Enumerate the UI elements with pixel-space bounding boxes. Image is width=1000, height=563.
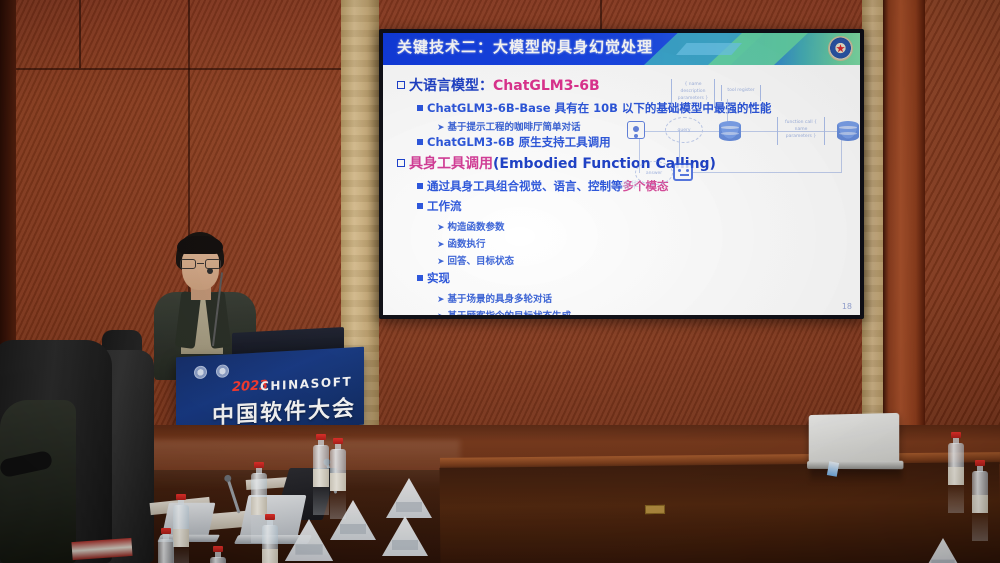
bullet-text: 基于顾客指令的目标状态生成 bbox=[448, 311, 572, 315]
bullet-line-11: 实现 bbox=[417, 267, 450, 286]
display-panel: 关键技术二：大模型的具身幻觉处理 大语言模型：ChatGLM3-6B ChatG… bbox=[383, 33, 860, 315]
name-card-strip bbox=[340, 524, 366, 534]
wall-seam-horizontal bbox=[0, 68, 341, 70]
bullet-text: 大语言模型： bbox=[409, 78, 493, 94]
diagram-node-tool-register: tool register bbox=[721, 85, 761, 101]
speaker-hair-fringe bbox=[177, 236, 223, 254]
robot-icon bbox=[673, 163, 693, 181]
bottle-body bbox=[158, 539, 174, 563]
bottle-reflection bbox=[173, 545, 189, 563]
diagram-connector bbox=[679, 172, 841, 173]
name-card-strip bbox=[396, 502, 422, 512]
name-card-strip bbox=[931, 560, 954, 563]
bottle-reflection bbox=[948, 483, 964, 513]
bottle-reflection bbox=[313, 485, 329, 515]
bullet-line-10: ➤回答、目标状态 bbox=[437, 249, 514, 268]
bullet-square-hollow-icon bbox=[397, 159, 405, 167]
bullet-text: 通过具身工具组合视觉、语言、控制等 bbox=[427, 179, 623, 193]
bullet-square-solid-icon bbox=[417, 139, 423, 145]
diagram-node-function-call: function call { name parameters } bbox=[777, 117, 825, 145]
slide-body: 大语言模型：ChatGLM3-6B ChatGLM3-6B-Base 具有在 1… bbox=[383, 65, 860, 315]
table-front-face bbox=[440, 462, 1000, 563]
bullet-square-hollow-icon bbox=[397, 81, 405, 89]
bottle-reflection bbox=[972, 511, 988, 541]
laptop-shadow bbox=[810, 468, 902, 484]
user-icon bbox=[627, 121, 645, 139]
name-card-strip bbox=[295, 544, 322, 555]
bullet-text: 实现 bbox=[427, 271, 450, 285]
bullet-text: ChatGLM3-6B 原生支持工具调用 bbox=[427, 135, 611, 149]
bullet-square-solid-icon bbox=[417, 105, 423, 111]
bullet-square-solid-icon bbox=[417, 183, 423, 189]
org-seal-left-icon bbox=[194, 366, 207, 380]
bullet-square-solid-icon bbox=[417, 275, 423, 281]
slide-title: 关键技术二：大模型的具身幻觉处理 bbox=[397, 36, 653, 57]
query-cloud-icon: query bbox=[665, 117, 703, 143]
bullet-line-13: ➤基于顾客指令的目标状态生成 bbox=[437, 304, 571, 315]
bottle-body bbox=[173, 505, 189, 545]
presentation-display[interactable]: 关键技术二：大模型的具身幻觉处理 大语言模型：ChatGLM3-6B ChatG… bbox=[379, 29, 864, 319]
bullet-text: 工作流 bbox=[427, 199, 462, 213]
bullet-arrow-icon: ➤ bbox=[437, 312, 445, 315]
red-wood-column bbox=[883, 0, 925, 470]
bottle-body bbox=[313, 445, 329, 485]
conference-room-photo: 关键技术二：大模型的具身幻觉处理 大语言模型：ChatGLM3-6B ChatG… bbox=[0, 0, 1000, 563]
wall-seam-vertical-a bbox=[79, 0, 81, 68]
bullet-square-solid-icon bbox=[417, 203, 423, 209]
bullet-line-1: 大语言模型：ChatGLM3-6B bbox=[397, 75, 600, 95]
bottle-body bbox=[330, 449, 346, 489]
database-icon-2 bbox=[837, 121, 859, 141]
bullet-line-7: 工作流 bbox=[417, 195, 462, 214]
slide-page-number: 18 bbox=[842, 302, 852, 311]
bullet-text: 具身工具调用 bbox=[409, 156, 493, 172]
bullet-arrow-icon: ➤ bbox=[437, 257, 445, 267]
microphone-head-icon bbox=[207, 268, 213, 274]
wall-seam-vertical-c bbox=[600, 0, 602, 30]
bottle-body bbox=[972, 471, 988, 511]
answer-cloud-icon: answer bbox=[635, 161, 673, 185]
laptop-base bbox=[807, 461, 903, 469]
bottle-body bbox=[251, 473, 267, 513]
table-plaque bbox=[645, 505, 665, 514]
apple-laptop[interactable] bbox=[806, 414, 902, 476]
podium-banner: 2023 CHINASOFT 中国软件大会 bbox=[176, 347, 364, 436]
apple-logo-icon bbox=[846, 431, 860, 447]
bullet-text: 回答、目标状态 bbox=[448, 256, 515, 267]
bottle-reflection bbox=[330, 489, 346, 519]
bottle-body bbox=[262, 525, 278, 563]
name-card-strip bbox=[392, 540, 418, 550]
bottle-body bbox=[948, 443, 964, 483]
bottle-body bbox=[210, 557, 226, 563]
university-crest-icon bbox=[828, 36, 853, 61]
slide: 关键技术二：大模型的具身幻觉处理 大语言模型：ChatGLM3-6B ChatG… bbox=[383, 33, 860, 315]
bullet-highlight: ChatGLM3-6B bbox=[493, 78, 600, 94]
bullet-line-4: ChatGLM3-6B 原生支持工具调用 bbox=[417, 131, 611, 150]
laptop-lid bbox=[809, 413, 899, 465]
glasses-icon bbox=[180, 259, 221, 269]
slide-header-bar: 关键技术二：大模型的具身幻觉处理 bbox=[383, 33, 860, 65]
diagram-node-schema: { name description parameters } bbox=[671, 79, 715, 107]
org-seal-right-icon bbox=[216, 364, 229, 378]
diagram-watermark: 清华 bbox=[621, 178, 639, 191]
function-calling-diagram: { name description parameters } tool reg… bbox=[619, 73, 860, 193]
right-wall-panel bbox=[925, 0, 1000, 470]
header-chevron-blue bbox=[676, 43, 742, 55]
bottle-label bbox=[262, 549, 278, 563]
draped-jacket bbox=[0, 400, 76, 563]
database-icon-1 bbox=[719, 121, 741, 141]
